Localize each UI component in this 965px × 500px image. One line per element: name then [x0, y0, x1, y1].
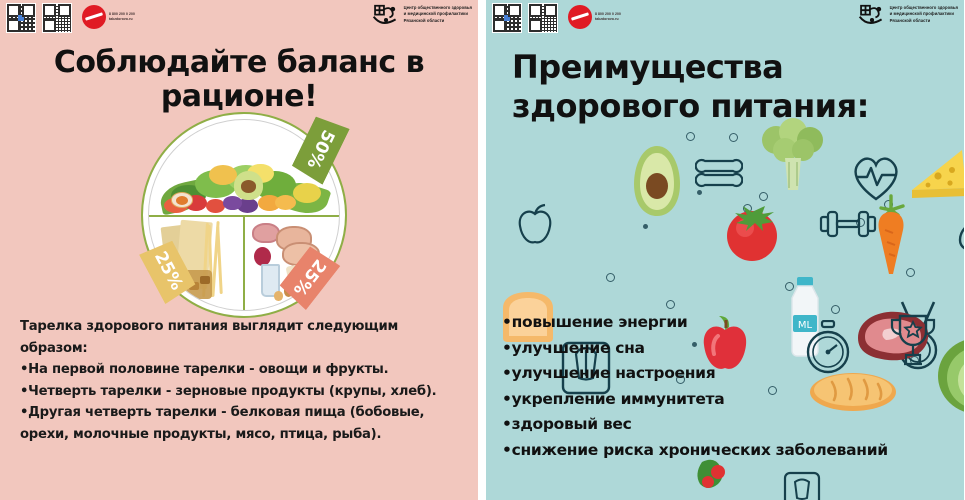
health-center-logo-icon-right [858, 3, 886, 29]
avocado-icon [632, 144, 682, 218]
org-logo-left: Центр общественного здоровья и медицинск… [372, 3, 472, 29]
no-smoking-icon-right [568, 5, 592, 29]
takzdorovo-badge: 8 800 200 0 200 takzdorovo.ru [82, 5, 135, 29]
qr-code-1[interactable] [6, 3, 36, 33]
dumbbell-icon [819, 207, 877, 241]
health-center-logo-icon [372, 3, 400, 29]
left-logo-bar: 8 800 200 0 200 takzdorovo.ru Центр обще… [6, 3, 472, 37]
tomato-icon [719, 198, 785, 264]
org-line-3: Рязанской области [404, 18, 472, 24]
qr-code-2[interactable] [42, 3, 72, 33]
heart-pulse-icon [849, 152, 903, 202]
benefit-item-4: •укрепление иммунитета [502, 387, 954, 413]
no-smoking-icon [82, 5, 106, 29]
right-headline: Преимущества здорового питания: [512, 48, 938, 126]
badge-site-right: takzdorovo.ru [595, 17, 621, 22]
left-headline: Соблюдайте баланс в рационе! [0, 46, 478, 114]
left-body-line-3: •Четверть тарелки - зерновые продукты (к… [20, 381, 464, 403]
bone-icon [695, 155, 743, 191]
qr-code-4[interactable] [528, 3, 558, 33]
left-body-text: Тарелка здорового питания выглядит следу… [20, 316, 464, 445]
badge-site: takzdorovo.ru [109, 17, 135, 22]
carrot-icon [869, 190, 913, 280]
left-body-line-4: •Другая четверть тарелки - белковая пища… [20, 402, 464, 445]
benefits-list: •повышение энергии •улучшение сна •улучш… [502, 310, 954, 464]
benefit-item-5: •здоровый вес [502, 412, 954, 438]
left-body-line-2: •На первой половине тарелки - овощи и фр… [20, 359, 464, 381]
cheese-icon [910, 148, 964, 200]
benefit-item-3: •улучшение настроения [502, 361, 954, 387]
broccoli-icon [759, 118, 827, 194]
right-logo-bar: 8 800 200 0 200 takzdorovo.ru Центр обще… [492, 3, 958, 37]
org-line-3-right: Рязанской области [890, 18, 958, 24]
left-body-line-1: Тарелка здорового питания выглядит следу… [20, 316, 464, 359]
org-logo-right: Центр общественного здоровья и медицинск… [858, 3, 958, 29]
right-panel: 8 800 200 0 200 takzdorovo.ru Центр обще… [486, 0, 964, 500]
benefit-item-6: •снижение риска хронических заболеваний [502, 438, 954, 464]
qr-code-3[interactable] [492, 3, 522, 33]
left-panel: 8 800 200 0 200 takzdorovo.ru Центр обще… [0, 0, 478, 500]
takzdorovo-badge-right: 8 800 200 0 200 takzdorovo.ru [568, 5, 621, 29]
poster-root: 8 800 200 0 200 takzdorovo.ru Центр обще… [0, 0, 965, 500]
weight-scale-small-icon [782, 470, 822, 500]
benefit-item-2: •улучшение сна [502, 336, 954, 362]
kettlebell-icon [956, 203, 964, 255]
benefit-item-1: •повышение энергии [502, 310, 954, 336]
apple-outline-icon [514, 202, 556, 248]
